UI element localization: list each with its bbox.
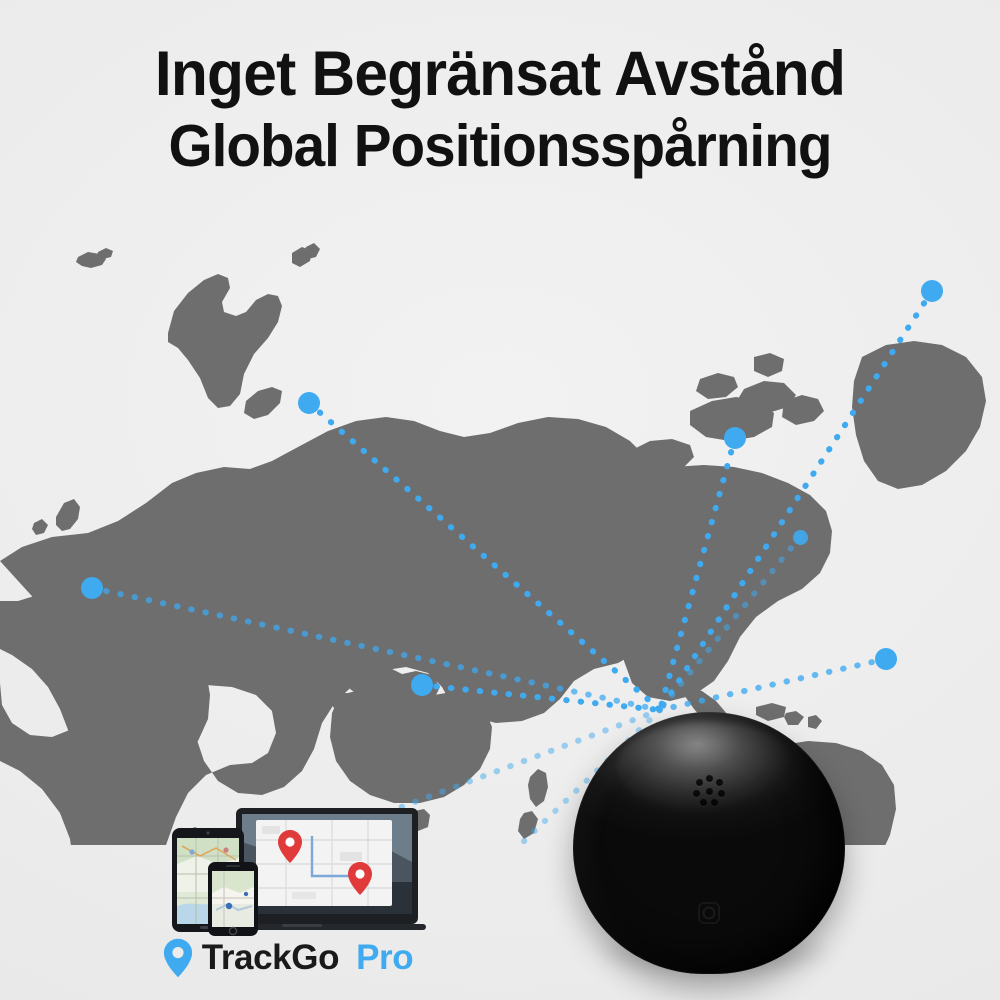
mockup-phone [208, 862, 258, 936]
marker-eurasia-north[interactable] [298, 392, 320, 414]
marker-greenland[interactable] [921, 280, 943, 302]
marker-australia[interactable] [411, 674, 433, 696]
speaker-grille-icon [692, 774, 726, 808]
brand-suffix: Pro [356, 939, 413, 977]
location-pin-icon [163, 938, 193, 978]
product-marketing-poster: Inget Begränsat Avstånd Global Positions… [0, 0, 1000, 1000]
power-button[interactable] [698, 902, 720, 924]
headline-line-2: Global Positionsspårning [20, 110, 980, 182]
marker-south-america[interactable] [875, 648, 897, 670]
multi-device-map-preview [162, 806, 426, 936]
brand-logo: TrackGo Pro [0, 938, 1000, 978]
brand-name: TrackGo [202, 939, 339, 977]
marker-africa-central[interactable] [81, 577, 103, 599]
world-map-landmasses [0, 205, 1000, 845]
marker-caribbean[interactable] [793, 530, 808, 545]
headline-line-1: Inget Begränsat Avstånd [20, 38, 980, 110]
gps-tracker-puck[interactable] [573, 712, 845, 974]
page-title: Inget Begränsat Avstånd Global Positions… [0, 38, 1000, 182]
world-map [0, 205, 1000, 845]
marker-north-america[interactable] [724, 427, 746, 449]
